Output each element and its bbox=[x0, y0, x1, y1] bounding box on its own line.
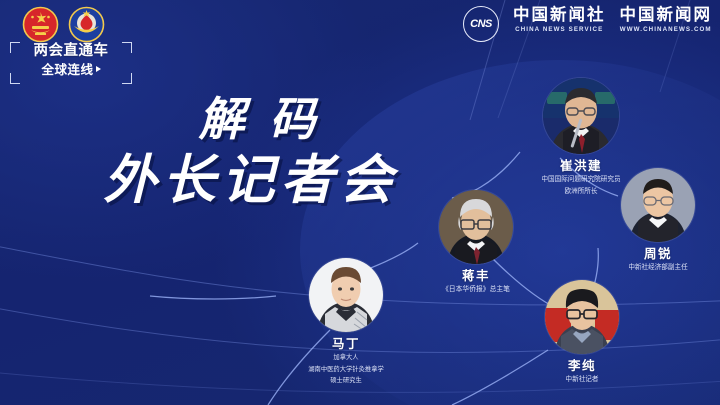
avatar bbox=[309, 258, 383, 332]
title-line-1: 解 码 bbox=[86, 96, 416, 142]
avatar bbox=[439, 190, 513, 264]
person-role-line2: 湖南中医药大学针灸推拿学 bbox=[278, 365, 414, 374]
cppcc-emblem-icon bbox=[68, 6, 105, 43]
person-role-line1: 中新社经济部副主任 bbox=[592, 263, 720, 273]
npc-national-emblem-icon bbox=[22, 6, 59, 43]
outlet-logo-group: CNS 中国新闻社 CHINA NEWS SERVICE 中国新闻网 WWW.C… bbox=[463, 6, 712, 40]
avatar bbox=[543, 78, 619, 154]
outlet-china-news-service: 中国新闻社 CHINA NEWS SERVICE bbox=[513, 6, 606, 34]
cns-mark-text: CNS bbox=[470, 18, 492, 30]
outlet1-name-en: CHINA NEWS SERVICE bbox=[515, 26, 603, 34]
avatar bbox=[621, 168, 695, 242]
person-card-li[interactable]: 李纯 中新社记者 bbox=[520, 280, 644, 385]
outlet2-name-en: WWW.CHINANEWS.COM bbox=[620, 26, 712, 34]
person-name: 李纯 bbox=[520, 359, 644, 373]
person-role-line3: 硕士研究生 bbox=[278, 376, 414, 385]
person-name: 马丁 bbox=[278, 337, 414, 351]
person-role-line1: 中新社记者 bbox=[520, 375, 644, 385]
badge-title-line2: 全球连线 bbox=[10, 61, 132, 79]
title-line-2: 外长记者会 bbox=[86, 154, 416, 207]
poster-canvas: 两会直通车 全球连线 CNS 中国新闻社 CHINA NEWS SERVICE … bbox=[0, 0, 720, 405]
outlet-chinanews-web: 中国新闻网 WWW.CHINANEWS.COM bbox=[620, 6, 713, 34]
outlet2-name-cn: 中国新闻网 bbox=[620, 6, 713, 25]
avatar bbox=[545, 280, 619, 354]
play-triangle-icon bbox=[96, 66, 101, 72]
program-badge: 两会直通车 全球连线 bbox=[6, 2, 136, 86]
badge-frame: 两会直通车 全球连线 bbox=[10, 42, 132, 84]
person-card-zhou[interactable]: 周锐 中新社经济部副主任 bbox=[592, 168, 720, 273]
cns-globe-icon: CNS bbox=[463, 6, 499, 42]
badge-line2-text: 全球连线 bbox=[41, 63, 93, 77]
badge-title-line1: 两会直通车 bbox=[10, 42, 132, 61]
emblem-group bbox=[22, 6, 105, 43]
page-title: 解 码 外长记者会 bbox=[86, 96, 416, 207]
person-card-ma[interactable]: 马丁 加拿大人 湖南中医药大学针灸推拿学 硕士研究生 bbox=[278, 258, 414, 385]
outlet1-name-cn: 中国新闻社 bbox=[513, 6, 606, 25]
person-name: 周锐 bbox=[592, 247, 720, 261]
person-role-line1: 加拿大人 bbox=[278, 353, 414, 362]
